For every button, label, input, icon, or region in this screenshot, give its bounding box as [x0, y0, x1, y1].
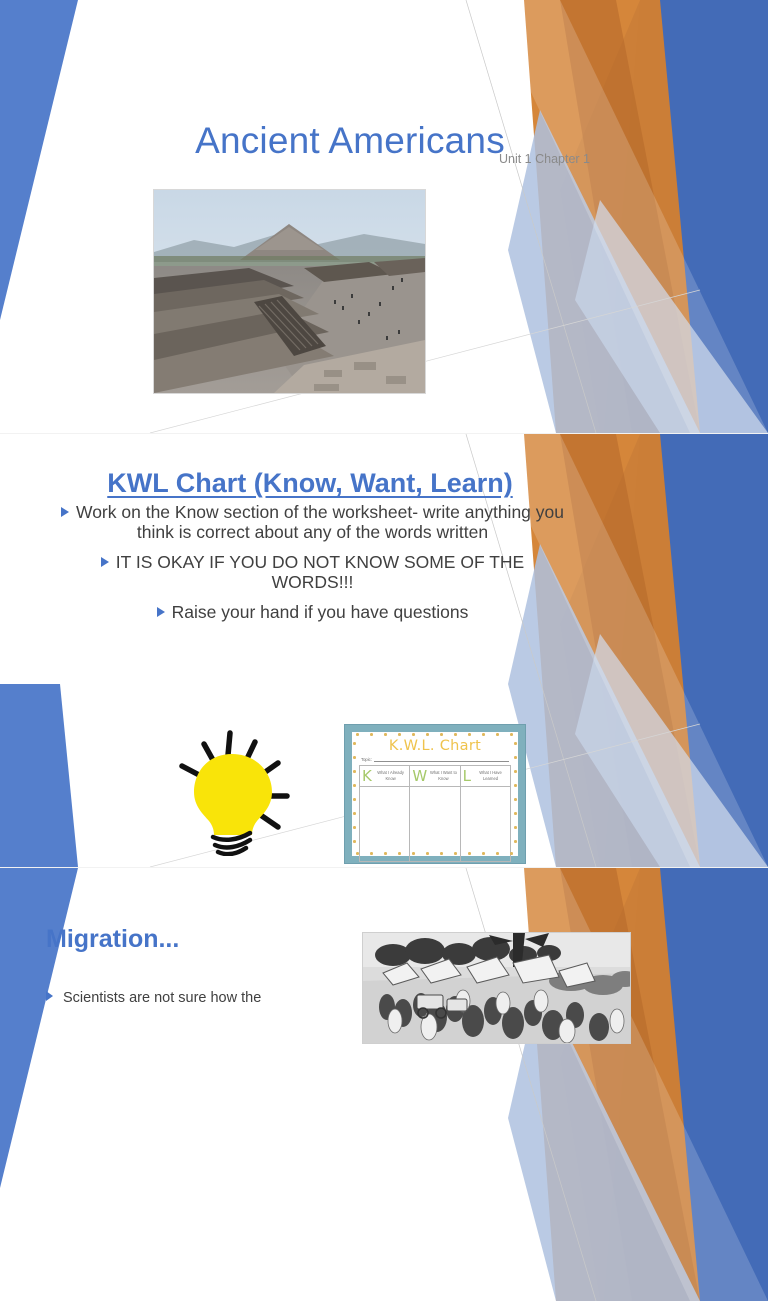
worksheet-title: K.W.L. Chart — [359, 738, 511, 754]
worksheet-column-w: W What I Want to Know — [409, 766, 459, 861]
teotihuacan-pyramids-image — [153, 189, 426, 394]
bullet-item: IT IS OKAY IF YOU DO NOT KNOW SOME OF TH… — [30, 552, 595, 593]
worksheet-topic-line — [374, 756, 509, 762]
bullet-list: Work on the Know section of the workshee… — [30, 502, 595, 631]
lightbulb-icon — [168, 728, 300, 856]
column-letter: K — [362, 769, 372, 784]
worksheet-column-l: L What I Have Learned — [460, 766, 510, 861]
slide-1-title[interactable]: Ancient Americans Unit 1 Chapter 1 — [0, 0, 768, 433]
section-heading-migration: Migration... — [46, 925, 179, 954]
worksheet-column-k: K What I Already Know — [360, 766, 409, 861]
bullet-item: Raise your hand if you have questions — [30, 602, 595, 622]
column-label: What I Want to Know — [429, 770, 457, 781]
worksheet-columns: K What I Already Know W What I Want to K… — [359, 765, 511, 862]
column-label: What I Already Know — [374, 770, 407, 781]
column-letter: W — [412, 769, 427, 784]
worksheet-topic-label: Topic: — [361, 757, 372, 762]
bullet-triangle-icon — [61, 507, 69, 517]
bullet-text: Raise your hand if you have questions — [172, 602, 469, 622]
bullet-text: Scientists are not sure how the — [63, 990, 261, 1006]
worksheet-topic-field: Topic: — [361, 756, 509, 762]
bullet-item: Scientists are not sure how the — [46, 990, 296, 1006]
bullet-item: Work on the Know section of the workshee… — [30, 502, 595, 543]
column-letter: L — [463, 769, 471, 784]
bullet-text: IT IS OKAY IF YOU DO NOT KNOW SOME OF TH… — [116, 552, 524, 592]
slide-subtitle: Unit 1 Chapter 1 — [200, 152, 590, 166]
bullet-triangle-icon — [101, 557, 109, 567]
bullet-text: Work on the Know section of the workshee… — [76, 502, 564, 542]
column-label: What I Have Learned — [473, 770, 508, 781]
migration-caravan-image — [362, 932, 631, 1044]
bullet-triangle-icon — [157, 607, 165, 617]
kwl-worksheet-image: K.W.L. Chart Topic: K What I Already Kno… — [344, 724, 526, 864]
slide-deck-viewer[interactable]: Ancient Americans Unit 1 Chapter 1 — [0, 0, 768, 1024]
bullet-triangle-icon — [46, 991, 53, 1001]
section-heading-kwl: KWL Chart (Know, Want, Learn) — [40, 468, 580, 499]
slide-3-migration[interactable]: Migration... Scientists are not sure how… — [0, 868, 768, 1301]
